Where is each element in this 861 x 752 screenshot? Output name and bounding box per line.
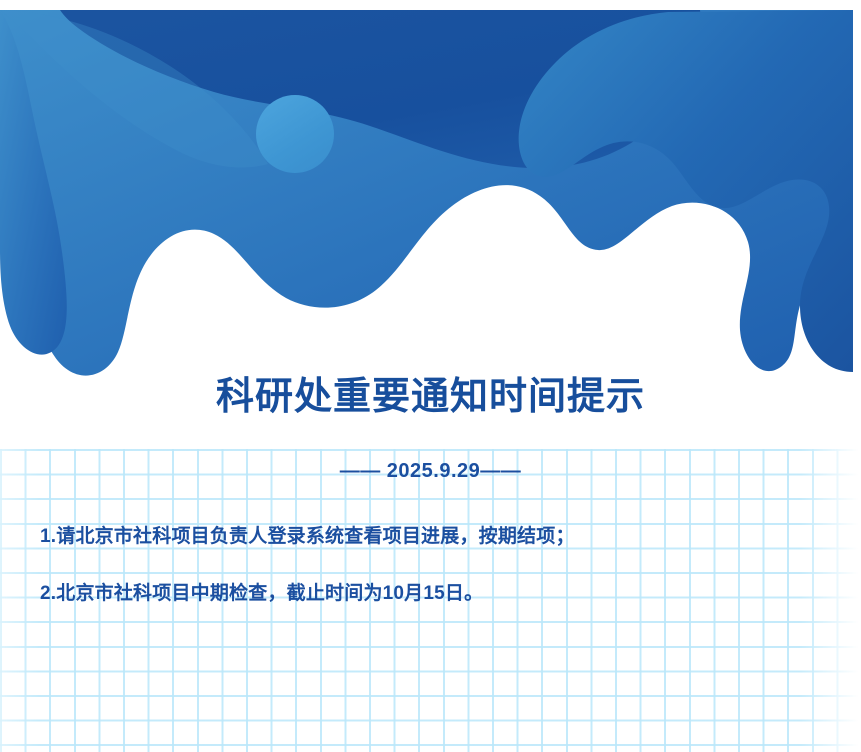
list-item: 1.请北京市社科项目负责人登录系统查看项目进展，按期结项； [40, 524, 830, 550]
notice-poster: 科研处重要通知时间提示 —— 2025.9.29—— 1.请北京市社科项目负责人… [0, 0, 861, 752]
date-subtitle: —— 2025.9.29—— [0, 458, 861, 484]
notice-list: 1.请北京市社科项目负责人登录系统查看项目进展，按期结项； 2.北京市社科项目中… [40, 524, 830, 607]
poster-content: 科研处重要通知时间提示 —— 2025.9.29—— 1.请北京市社科项目负责人… [0, 0, 861, 752]
list-item: 2.北京市社科项目中期检查，截止时间为10月15日。 [40, 581, 830, 607]
page-title: 科研处重要通知时间提示 [0, 374, 861, 420]
